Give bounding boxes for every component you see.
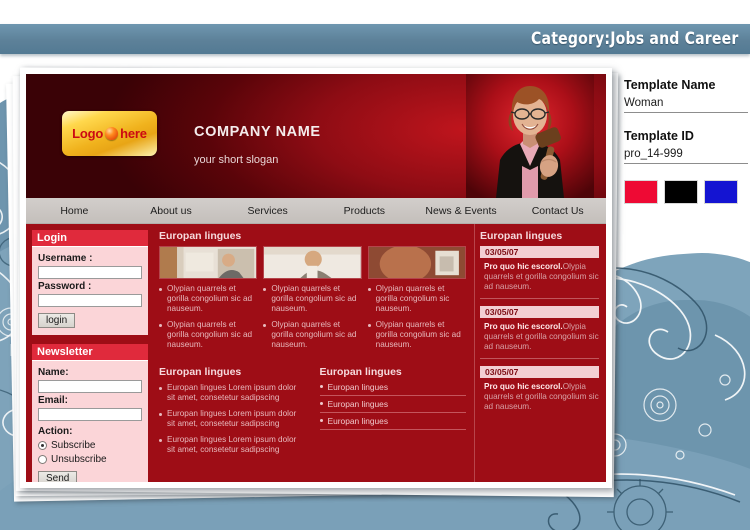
newsletter-email-label: Email: <box>38 395 142 406</box>
list-item: Olypian quarrels et gorilla congolium si… <box>159 320 257 350</box>
radio-subscribe-icon[interactable] <box>38 441 47 450</box>
lower-content-columns: Europan lingues Europan lingues Lorem ip… <box>159 366 466 461</box>
lower-left-section: Europan lingues Europan lingues Lorem ip… <box>159 366 306 461</box>
send-button[interactable]: Send <box>38 471 77 482</box>
newsletter-panel: Newsletter Name: Email: Action: Subscrib… <box>30 342 150 482</box>
news-body: Pro quo hic escorol.Olypia quarrels et g… <box>480 262 599 292</box>
color-swatch-blue[interactable] <box>704 180 738 204</box>
list-item: Olypian quarrels et gorilla congolium si… <box>263 320 361 350</box>
login-panel-title: Login <box>32 230 148 247</box>
list-item: Olypian quarrels et gorilla congolium si… <box>263 284 361 314</box>
template-name-value: Woman <box>624 97 748 113</box>
newsletter-email-input[interactable] <box>38 408 142 421</box>
list-item: Olypian quarrels et gorilla congolium si… <box>159 284 257 314</box>
password-input[interactable] <box>38 294 142 307</box>
news-body: Pro quo hic escorol.Olypia quarrels et g… <box>480 322 599 352</box>
list-item[interactable]: Europan lingues <box>320 399 467 413</box>
newsletter-panel-title: Newsletter <box>32 344 148 361</box>
list-item[interactable]: Europan lingues <box>320 416 467 430</box>
template-preview-card[interactable]: Logo here COMPANY NAME your short slogan <box>20 68 612 488</box>
site-sidebar-left: Login Username : Password : login Newsle… <box>26 224 153 482</box>
site-main-content: Europan lingues <box>153 224 474 482</box>
site-body: Login Username : Password : login Newsle… <box>26 224 606 482</box>
feature-list-3: Olypian quarrels et gorilla congolium si… <box>368 284 466 350</box>
template-id-label: Template ID <box>624 129 748 143</box>
feature-thumb-2[interactable] <box>263 246 361 279</box>
radio-unsubscribe-icon[interactable] <box>38 455 47 464</box>
nav-item-about-us[interactable]: About us <box>123 205 220 217</box>
lower-right-section: Europan lingues Europan lingues Europan … <box>320 366 467 461</box>
feature-thumbnails: Olypian quarrels et gorilla congolium si… <box>159 246 466 356</box>
news-item[interactable]: 03/05/07 Pro quo hic escorol.Olypia quar… <box>480 366 599 418</box>
login-button[interactable]: login <box>38 313 75 328</box>
template-id-value: pro_14-999 <box>624 148 748 164</box>
news-date-badge: 03/05/07 <box>480 366 599 378</box>
feature-column-2: Olypian quarrels et gorilla congolium si… <box>263 246 361 356</box>
logo-text-left: Logo <box>72 126 103 141</box>
news-headline: Pro quo hic escorol. <box>484 262 563 271</box>
news-item[interactable]: 03/05/07 Pro quo hic escorol.Olypia quar… <box>480 306 599 359</box>
news-item[interactable]: 03/05/07 Pro quo hic escorol.Olypia quar… <box>480 246 599 299</box>
template-site-mockup: Logo here COMPANY NAME your short slogan <box>26 74 606 482</box>
list-item[interactable]: Europan lingues <box>320 382 467 396</box>
list-item: Europan lingues Lorem ipsum dolor sit am… <box>159 435 306 455</box>
template-info-panel: Template Name Woman Template ID pro_14-9… <box>624 78 748 204</box>
template-name-label: Template Name <box>624 78 748 92</box>
nav-item-contact-us[interactable]: Contact Us <box>509 205 606 217</box>
site-navigation[interactable]: Home About us Services Products News & E… <box>26 198 606 224</box>
header-photo-woman-with-gavel <box>466 74 594 198</box>
logo-text-right: here <box>120 126 147 141</box>
radio-option-unsubscribe[interactable]: Unsubscribe <box>38 454 142 465</box>
features-section-title: Europan lingues <box>159 230 466 242</box>
radio-unsubscribe-label: Unsubscribe <box>51 454 107 465</box>
list-item: Europan lingues Lorem ipsum dolor sit am… <box>159 409 306 429</box>
nav-item-products[interactable]: Products <box>316 205 413 217</box>
feature-list-2: Olypian quarrels et gorilla congolium si… <box>263 284 361 350</box>
feature-list-1: Olypian quarrels et gorilla congolium si… <box>159 284 257 350</box>
lower-left-list: Europan lingues Lorem ipsum dolor sit am… <box>159 383 306 455</box>
lower-right-link-list[interactable]: Europan lingues Europan lingues Europan … <box>320 382 467 430</box>
list-item: Europan lingues Lorem ipsum dolor sit am… <box>159 383 306 403</box>
nav-item-news-events[interactable]: News & Events <box>413 205 510 217</box>
radio-subscribe-label: Subscribe <box>51 440 95 451</box>
feature-column-1: Olypian quarrels et gorilla congolium si… <box>159 246 257 356</box>
username-label: Username : <box>38 253 142 264</box>
company-slogan: your short slogan <box>194 154 278 166</box>
newsletter-action-label: Action: <box>38 426 142 437</box>
password-label: Password : <box>38 281 142 292</box>
site-news-column: Europan lingues 03/05/07 Pro quo hic esc… <box>474 224 606 482</box>
feature-thumb-1[interactable] <box>159 246 257 279</box>
news-date-badge: 03/05/07 <box>480 246 599 258</box>
username-input[interactable] <box>38 266 142 279</box>
category-title: Category:Jobs and Career <box>531 29 750 49</box>
news-headline: Pro quo hic escorol. <box>484 322 563 331</box>
news-date-badge: 03/05/07 <box>480 306 599 318</box>
orange-sphere-icon <box>105 127 118 140</box>
site-logo[interactable]: Logo here <box>62 111 157 156</box>
lower-right-title: Europan lingues <box>320 366 467 378</box>
color-swatches <box>624 180 748 204</box>
list-item: Olypian quarrels et gorilla congolium si… <box>368 320 466 350</box>
color-swatch-black[interactable] <box>664 180 698 204</box>
company-name: COMPANY NAME <box>194 124 321 140</box>
news-section-title: Europan lingues <box>480 230 599 242</box>
news-headline: Pro quo hic escorol. <box>484 382 563 391</box>
login-panel: Login Username : Password : login <box>30 228 150 337</box>
category-band: Category:Jobs and Career <box>0 24 750 54</box>
newsletter-name-label: Name: <box>38 367 142 378</box>
list-item: Olypian quarrels et gorilla congolium si… <box>368 284 466 314</box>
lower-left-title: Europan lingues <box>159 366 306 378</box>
site-header: Logo here COMPANY NAME your short slogan <box>26 74 606 198</box>
feature-thumb-3[interactable] <box>368 246 466 279</box>
feature-column-3: Olypian quarrels et gorilla congolium si… <box>368 246 466 356</box>
nav-item-home[interactable]: Home <box>26 205 123 217</box>
newsletter-name-input[interactable] <box>38 380 142 393</box>
radio-option-subscribe[interactable]: Subscribe <box>38 440 142 451</box>
news-body: Pro quo hic escorol.Olypia quarrels et g… <box>480 382 599 412</box>
color-swatch-red[interactable] <box>624 180 658 204</box>
nav-item-services[interactable]: Services <box>219 205 316 217</box>
